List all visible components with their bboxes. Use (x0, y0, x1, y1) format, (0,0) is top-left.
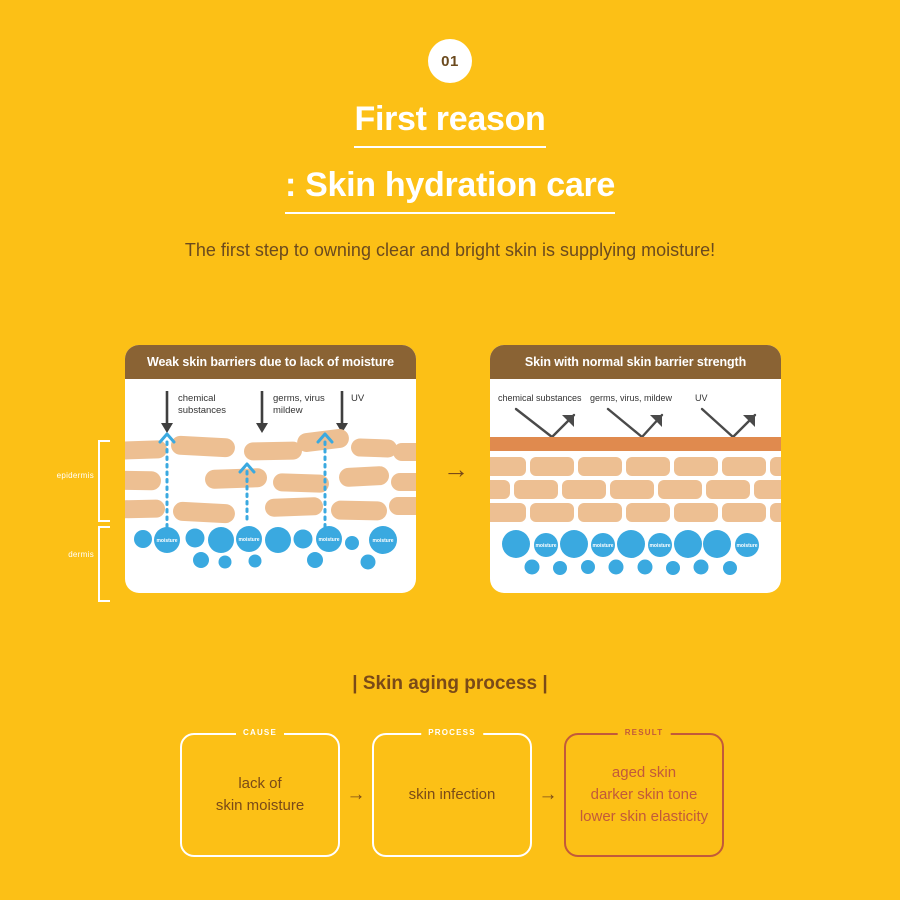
moisture-bubble (502, 530, 530, 558)
page-title-line-1: First reason (354, 100, 545, 148)
brick (173, 501, 236, 523)
moisture-bubble (525, 560, 540, 575)
deflect-in-uv (702, 409, 733, 437)
brick (393, 443, 416, 461)
moisture-bubble (560, 530, 588, 558)
flow-box-process-text: skin infection (409, 784, 496, 806)
moisture-label: moisture (156, 538, 177, 544)
brick (125, 471, 161, 491)
moisture-bubble (723, 561, 737, 575)
brick (530, 457, 574, 476)
brick (125, 500, 165, 519)
flow-arrow-1: → (340, 784, 372, 806)
flow-text-line: skin infection (409, 784, 496, 806)
moisture-bubble (294, 530, 313, 549)
title-line-1-wrap: First reason (0, 100, 900, 148)
moisture-bubble (361, 555, 376, 570)
brick (722, 503, 766, 522)
moisture-bubble (219, 556, 232, 569)
brick (578, 503, 622, 522)
deflected-arrows-group (516, 409, 755, 437)
flow-text-line: lower skin elasticity (580, 806, 708, 828)
flow-tag-result: RESULT (618, 727, 671, 739)
brick (770, 503, 781, 522)
skin-layer-brackets: epidermis dermis (30, 430, 110, 595)
brick (754, 480, 781, 499)
aging-process-flow: CAUSE lack of skin moisture → PROCESS sk… (180, 730, 725, 860)
threat-label-chemical: chemical substances (498, 393, 582, 403)
panel-normal-barrier: Skin with normal skin barrier strength c… (490, 345, 781, 593)
moisture-bubble (208, 527, 234, 553)
moisture-label: moisture (372, 538, 393, 544)
brick (722, 457, 766, 476)
brick (706, 480, 750, 499)
moisture-bubble (307, 552, 323, 568)
skin-barrier-layer (490, 437, 781, 451)
page-title-line-2: : Skin hydration care (285, 166, 615, 214)
epidermis-label: epidermis (57, 471, 94, 480)
brick (490, 503, 526, 522)
brick (674, 457, 718, 476)
moisture-label: moisture (535, 543, 556, 549)
brick (205, 468, 268, 489)
moisture-bubble (609, 560, 624, 575)
epidermis-bricks-disordered (125, 428, 416, 524)
threat-label-uv: UV (351, 393, 365, 404)
flow-box-result-text: aged skin darker skin tone lower skin el… (580, 762, 708, 827)
moisture-bubble (345, 536, 359, 550)
moisture-label: moisture (238, 537, 259, 543)
panel-weak-barrier-body: chemical substances germs, virus mildew … (125, 379, 416, 593)
moisture-bubbles-dense (502, 530, 759, 575)
moisture-bubble (186, 529, 205, 548)
moisture-bubble (553, 561, 567, 575)
deflect-in-germs (608, 409, 642, 437)
moisture-bubble (134, 530, 152, 548)
aging-process-title: | Skin aging process | (0, 673, 900, 695)
step-number-badge: 01 (428, 39, 472, 83)
dermis-bracket (98, 526, 110, 602)
deflect-in-chemical (516, 409, 552, 437)
deflected-arrowheads (562, 415, 755, 427)
normal-barrier-diagram: chemical substances germs, virus, mildew… (490, 379, 781, 593)
brick (244, 441, 302, 460)
brick (530, 503, 574, 522)
page-subtitle: The first step to owning clear and brigh… (0, 240, 900, 261)
flow-arrow-2: → (532, 784, 564, 806)
arrowhead-chemical (161, 423, 173, 433)
panels-transition-arrow: → (440, 455, 472, 483)
moisture-bubble (617, 530, 645, 558)
threat-label-chemical-line1: chemical (178, 393, 216, 404)
brick (626, 457, 670, 476)
flow-text-line: skin moisture (216, 795, 304, 817)
moisture-bubble (666, 561, 680, 575)
threat-label-germs-line1: germs, virus (273, 393, 325, 404)
moisture-bubble (694, 560, 709, 575)
moisture-bubble (193, 552, 209, 568)
flow-box-cause-text: lack of skin moisture (216, 773, 304, 817)
moisture-bubble (638, 560, 653, 575)
moisture-bubble (249, 555, 262, 568)
flow-tag-cause: CAUSE (236, 727, 284, 739)
moisture-bubble (581, 560, 595, 574)
brick (674, 503, 718, 522)
brick (351, 438, 398, 458)
brick (770, 457, 781, 476)
brick (391, 473, 416, 491)
moisture-bubble (265, 527, 291, 553)
moisture-label: moisture (649, 543, 670, 549)
brick (490, 480, 510, 499)
threat-label-germs-line2: mildew (273, 405, 303, 416)
flow-text-line: aged skin (580, 762, 708, 784)
flow-box-result: RESULT aged skin darker skin tone lower … (564, 733, 724, 857)
threat-label-chemical-line2: substances (178, 405, 226, 416)
arrowhead-germs (256, 423, 268, 433)
panel-normal-barrier-title: Skin with normal skin barrier strength (490, 345, 781, 379)
flow-tag-process: PROCESS (421, 727, 483, 739)
brick (273, 473, 330, 493)
brick (610, 480, 654, 499)
moisture-bubble (703, 530, 731, 558)
moisture-bubbles-sparse (134, 526, 397, 570)
weak-barrier-diagram: chemical substances germs, virus mildew … (125, 379, 416, 593)
brick (265, 497, 324, 517)
moisture-label: moisture (736, 543, 757, 549)
epidermis-bracket (98, 440, 110, 522)
brick (562, 480, 606, 499)
brick (171, 435, 236, 457)
flow-box-cause: CAUSE lack of skin moisture (180, 733, 340, 857)
dermis-label: dermis (68, 550, 94, 559)
brick (296, 428, 350, 453)
moisture-bubble (674, 530, 702, 558)
panel-weak-barrier-title: Weak skin barriers due to lack of moistu… (125, 345, 416, 379)
brick (626, 503, 670, 522)
brick (578, 457, 622, 476)
brick (658, 480, 702, 499)
moisture-label: moisture (592, 543, 613, 549)
brick (389, 497, 416, 515)
title-block: First reason : Skin hydration care (0, 100, 900, 214)
panel-weak-barrier: Weak skin barriers due to lack of moistu… (125, 345, 416, 593)
epidermis-bricks-orderly (490, 457, 781, 522)
brick (514, 480, 558, 499)
brick (339, 466, 390, 488)
flow-text-line: darker skin tone (580, 784, 708, 806)
threat-label-uv: UV (695, 393, 708, 403)
flow-box-process: PROCESS skin infection (372, 733, 532, 857)
panel-normal-barrier-body: chemical substances germs, virus, mildew… (490, 379, 781, 593)
flow-text-line: lack of (216, 773, 304, 795)
brick (490, 457, 526, 476)
title-line-2-wrap: : Skin hydration care (0, 166, 900, 214)
moisture-label: moisture (318, 537, 339, 543)
brick (331, 501, 387, 521)
threat-label-germs: germs, virus, mildew (590, 393, 673, 403)
